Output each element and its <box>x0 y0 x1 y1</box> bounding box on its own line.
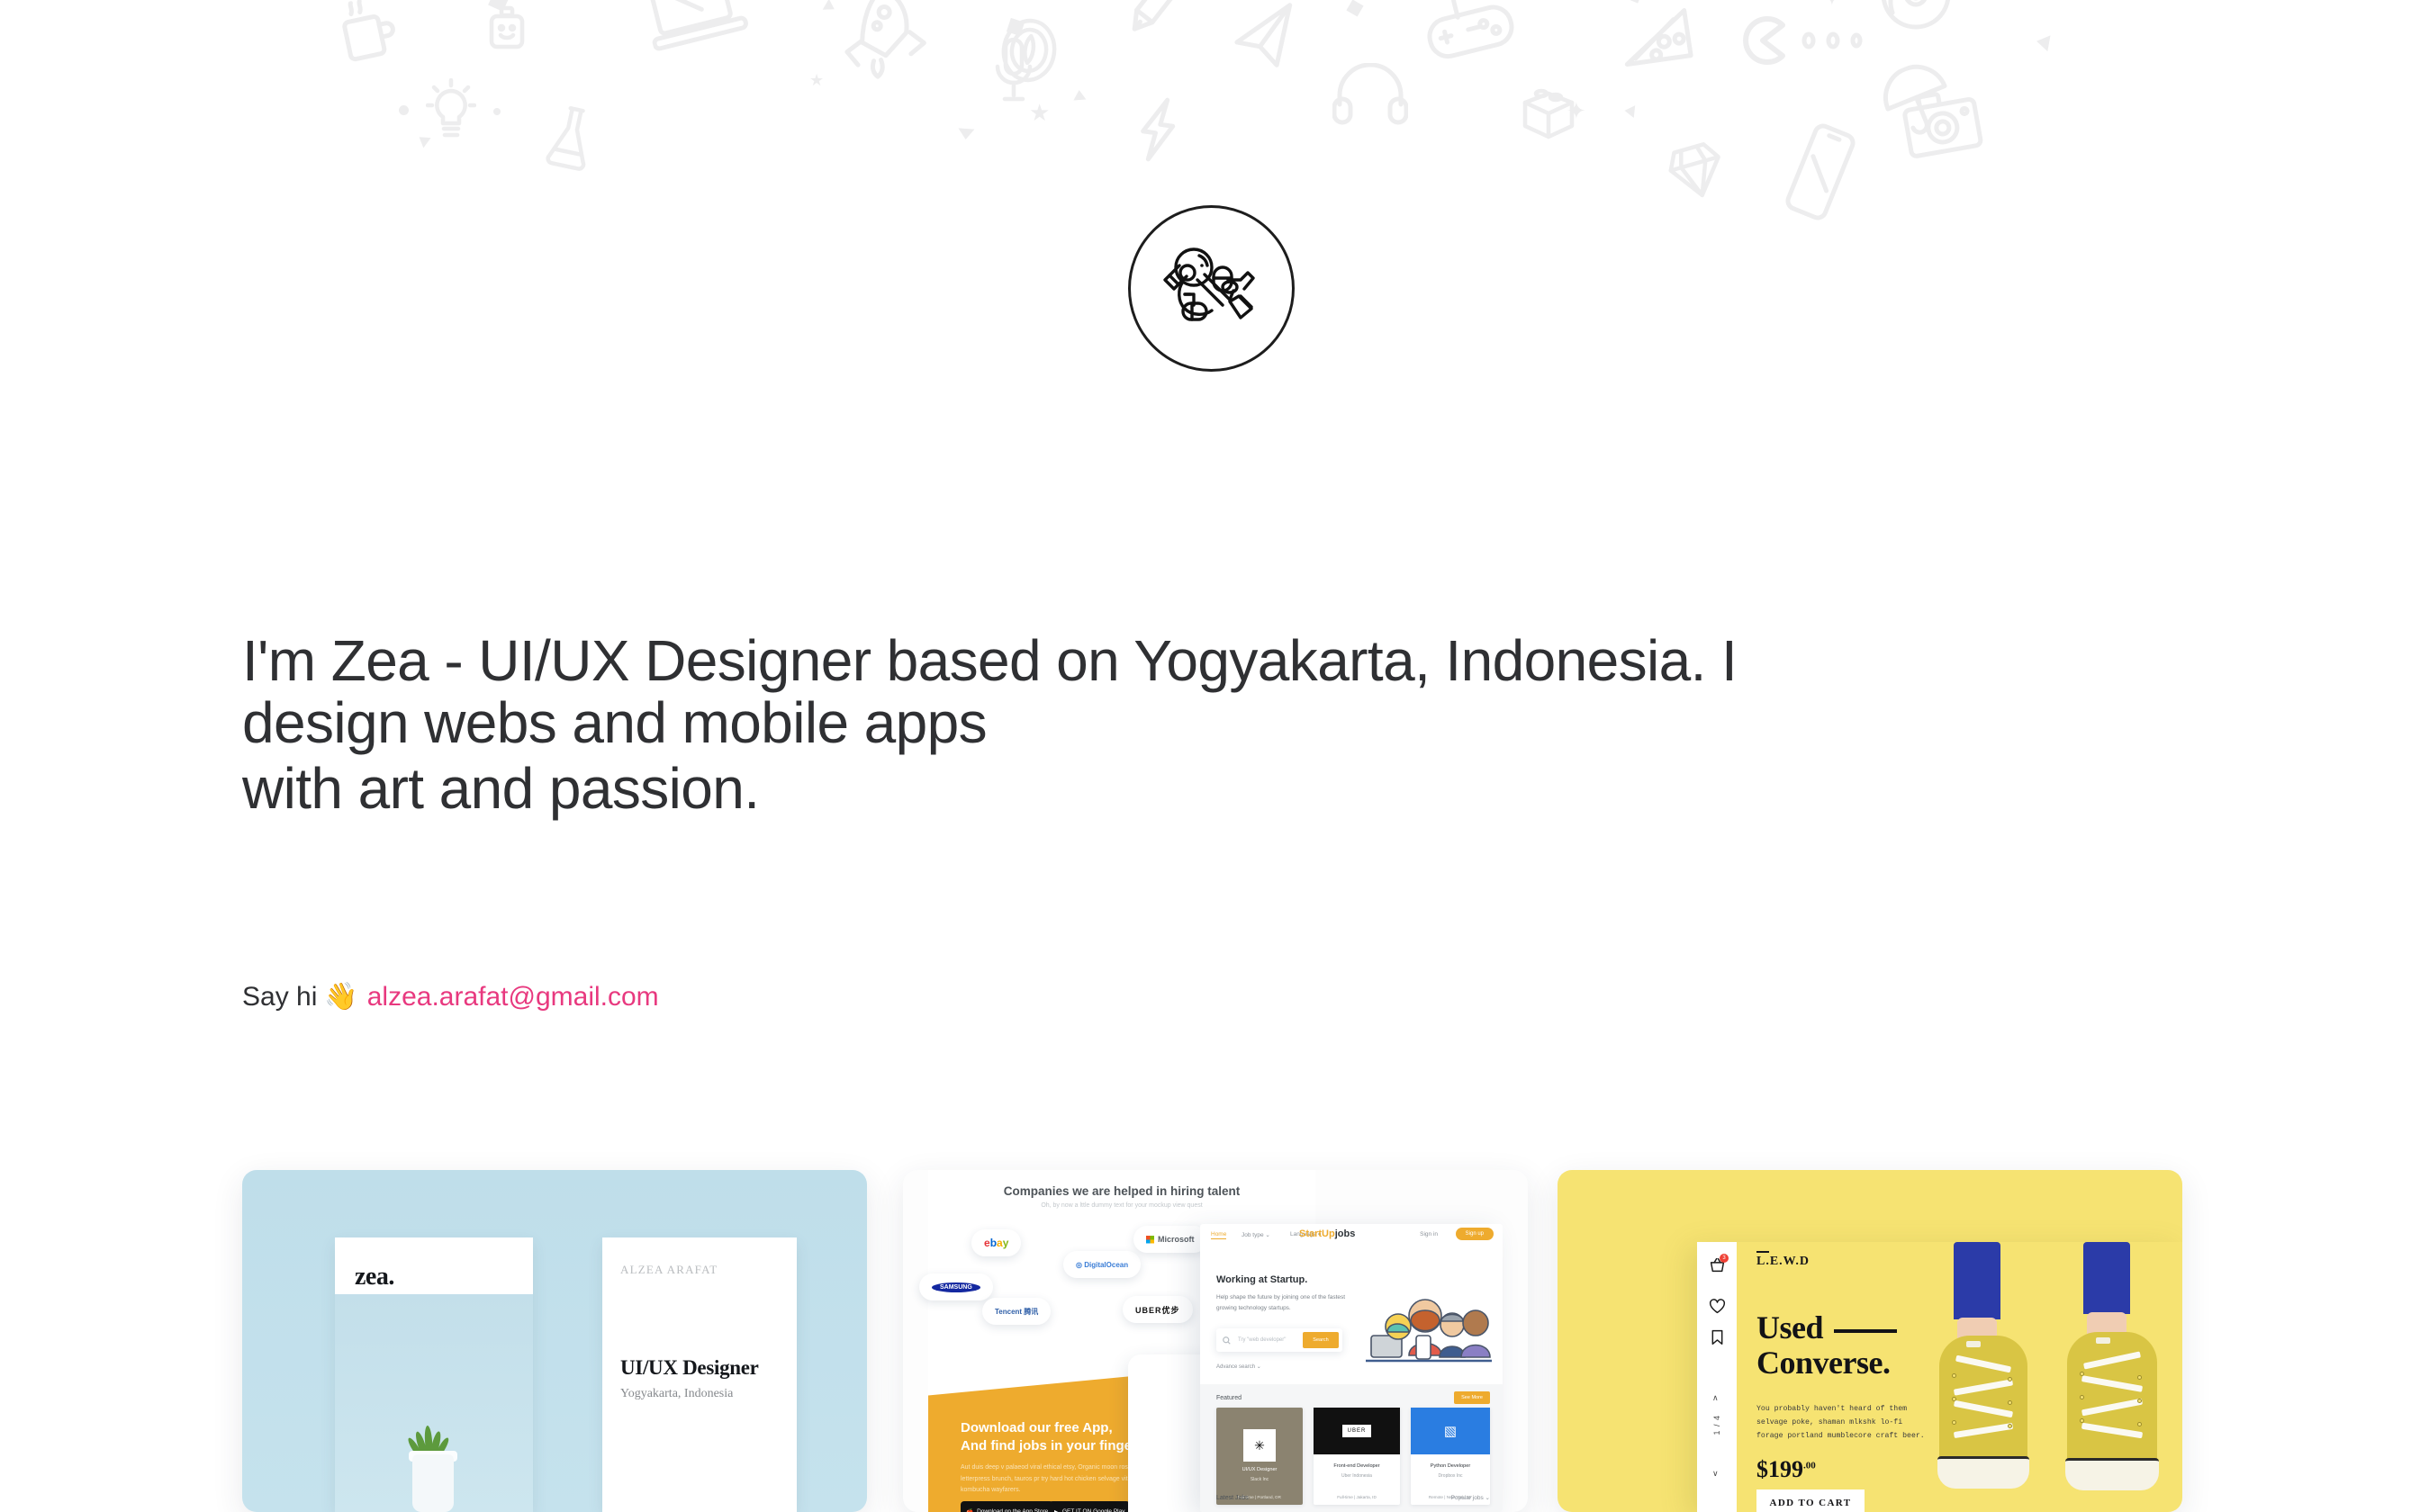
star-decoration: ★ <box>809 72 824 88</box>
smartphone-icon <box>1793 124 1847 220</box>
pagination-indicator: 1 / 4 <box>1712 1415 1721 1435</box>
astronaut-icon <box>1158 235 1266 343</box>
lewd-product-page: 3 ∧ 1 / 4 ∨ <box>1697 1242 2182 1512</box>
compass-icon <box>999 16 1059 85</box>
lewd-logo: L.E.W.D <box>1756 1255 1810 1269</box>
triangle-decoration <box>823 0 838 14</box>
team-illustration <box>1362 1280 1495 1370</box>
umbrella-icon <box>1882 65 1954 137</box>
pizza-slice-icon <box>1626 2 1700 85</box>
job-meta: Full-time | Jakarta, ID <box>1314 1495 1400 1499</box>
waving-hand-icon: 👋 <box>324 981 357 1012</box>
plant-photo <box>335 1294 533 1512</box>
logo-chip-samsung: SAMSUNG <box>919 1273 993 1300</box>
job-company: Dropbox Inc <box>1411 1473 1490 1479</box>
job-card-3[interactable]: ▧ Python Developer Dropbox Inc Remote | … <box>1411 1408 1490 1505</box>
dot-decoration <box>493 108 501 115</box>
triangle-decoration <box>958 128 975 139</box>
paper-plane-icon <box>1232 7 1302 72</box>
headline-line-1: I'm Zea - UI/UX Designer based on Yogyak… <box>242 628 1737 693</box>
see-more-button[interactable]: See More <box>1454 1391 1490 1404</box>
appstore-badge[interactable]: 🍎 Download on the App Store <box>961 1501 1053 1512</box>
lego-head-icon <box>486 5 528 52</box>
nav-signin[interactable]: Sign in <box>1420 1231 1438 1237</box>
triangle-decoration <box>2036 33 2051 51</box>
shopping-basket-icon[interactable]: 3 <box>1709 1256 1726 1278</box>
hero-body: Help shape the future by joining one of … <box>1216 1292 1360 1315</box>
triangle-decoration <box>1073 90 1087 101</box>
hero-title: Working at Startup. <box>1216 1274 1307 1285</box>
person-name: ALZEA ARAFAT <box>620 1263 718 1277</box>
headline-line-3: with art and passion. <box>242 758 2088 820</box>
companies-title: Companies we are helped in hiring talent <box>928 1184 1315 1198</box>
contact-prefix: Say hi <box>242 982 317 1012</box>
job-title: Front-end Developer <box>1314 1463 1400 1469</box>
heart-icon[interactable] <box>1709 1298 1726 1319</box>
site-nav: Home Job type ⌄ Language ● StartUpjobs S… <box>1200 1224 1503 1247</box>
advance-search-toggle[interactable]: Advance search ⌄ <box>1216 1363 1261 1370</box>
cd-disc-icon <box>1878 0 1954 32</box>
job-company: Slack Inc <box>1216 1477 1303 1482</box>
dot-decoration <box>399 105 409 115</box>
latest-jobs-label: Latest Jobs <box>1216 1495 1249 1501</box>
pacman-icon <box>1738 14 1786 67</box>
microphone-icon <box>990 36 1037 106</box>
business-card-back: ALZEA ARAFAT UI/UX Designer Yogyakarta, … <box>602 1237 797 1512</box>
cart-badge: 3 <box>1720 1254 1729 1263</box>
logo-chip-digitalocean: ◎ DigitalOcean <box>1063 1251 1141 1278</box>
project-card-zea-branding[interactable]: zea. ALZEA ARAFAT UI/UX Designer <box>242 1170 867 1512</box>
nav-home[interactable]: Home <box>1211 1231 1226 1239</box>
email-link[interactable]: alzea.arafat@gmail.com <box>367 982 659 1012</box>
logo-chip-microsoft: Microsoft <box>1133 1226 1207 1253</box>
product-hero: L.E.W.D Used Converse. You probably have… <box>1737 1242 2182 1512</box>
logo-chip-ebay: ebay <box>971 1229 1021 1256</box>
succulent-plant <box>405 1429 461 1512</box>
square-decoration <box>1346 0 1363 17</box>
startupjobs-homepage: Home Job type ⌄ Language ● StartUpjobs S… <box>1200 1224 1503 1512</box>
triangle-decoration <box>415 132 430 148</box>
star-decoration: ✦ <box>1822 0 1842 9</box>
search-placeholder: Try "web developer" <box>1238 1337 1286 1343</box>
signup-button[interactable]: Sign up <box>1456 1228 1494 1240</box>
pacman-dot-icon <box>1799 31 1867 50</box>
flask-icon <box>547 105 594 170</box>
add-to-cart-button[interactable]: ADD TO CART <box>1756 1489 1865 1512</box>
project-card-lewd-ecommerce[interactable]: 3 ∧ 1 / 4 ∨ <box>1558 1170 2182 1512</box>
product-description: You probably haven't heard of them selva… <box>1756 1402 1928 1444</box>
star-decoration: ✦ <box>1567 99 1586 122</box>
app-promo-body: Aut duis deep v palaeod viral ethical et… <box>961 1462 1150 1497</box>
diamond-icon <box>1667 140 1723 202</box>
square-decoration <box>1007 18 1025 36</box>
googleplay-badge[interactable]: ▶ GET IT ON Google Play <box>1049 1501 1130 1512</box>
person-location: Yogyakarta, Indonesia <box>620 1387 733 1401</box>
rocket-icon <box>837 0 927 79</box>
uber-logo: UBER <box>1342 1425 1372 1437</box>
search-button[interactable]: Search <box>1303 1332 1339 1348</box>
astronaut-logo[interactable] <box>1128 205 1295 372</box>
portfolio-page: ★ ✦ ✦ ★ <box>0 0 2420 1512</box>
headline-line-2: design webs and mobile apps <box>242 692 2088 754</box>
person-role: UI/UX Designer <box>620 1356 759 1380</box>
triangle-decoration <box>1624 104 1635 118</box>
popular-jobs-dropdown[interactable]: Popular jobs ⌄ <box>1451 1494 1490 1501</box>
coffee-mug-icon <box>340 0 396 61</box>
product-price: $199.00 <box>1756 1456 1816 1483</box>
laptop-icon <box>646 0 745 56</box>
product-heading: Used Converse. <box>1756 1310 1897 1381</box>
companies-subtitle: Oh, by now a lttle dummy text for your m… <box>928 1202 1315 1209</box>
dropbox-logo: ▧ <box>1444 1423 1457 1439</box>
featured-label: Featured <box>1216 1395 1242 1401</box>
job-title: UI/UX Designer <box>1216 1467 1303 1472</box>
square-decoration <box>488 0 510 12</box>
project-card-startupjobs[interactable]: Companies we are helped in hiring talent… <box>903 1170 1528 1512</box>
lego-brick-icon <box>1520 79 1577 140</box>
job-company: Uber Indonesia <box>1314 1473 1400 1479</box>
business-card-front: zea. <box>335 1237 533 1512</box>
job-title: Python Developer <box>1411 1463 1490 1469</box>
pencil-icon <box>1115 0 1196 43</box>
chevron-up-icon[interactable]: ∧ <box>1712 1393 1719 1403</box>
camera-icon <box>1903 90 1981 157</box>
star-decoration: ★ <box>1029 101 1050 124</box>
side-rail: 3 ∧ 1 / 4 ∨ <box>1697 1242 1737 1512</box>
logo-chip-uber: UBER优步 <box>1123 1296 1193 1323</box>
job-card-1[interactable]: ✳ UI/UX Designer Slack Inc Full-time | P… <box>1216 1408 1303 1505</box>
headphones-icon <box>1332 63 1408 126</box>
logo-chip-tencent: Tencent 腾讯 <box>982 1298 1051 1325</box>
job-search-bar[interactable]: Try "web developer" Search <box>1216 1328 1342 1352</box>
chevron-down-icon[interactable]: ∨ <box>1712 1469 1719 1479</box>
bookmark-icon[interactable] <box>1709 1328 1726 1350</box>
nav-jobtype[interactable]: Job type ⌄ <box>1242 1231 1270 1238</box>
gamepad-icon <box>1422 0 1518 59</box>
project-gallery: zea. ALZEA ARAFAT UI/UX Designer <box>0 1170 2420 1512</box>
lightbulb-icon <box>426 78 476 143</box>
square-decoration <box>1623 0 1643 4</box>
lightning-bolt-icon <box>1136 95 1179 164</box>
job-card-2[interactable]: UBER Front-end Developer Uber Indonesia … <box>1314 1408 1400 1505</box>
startupjobs-logo: StartUpjobs <box>1299 1228 1355 1239</box>
zea-logo: zea. <box>355 1263 394 1291</box>
converse-shoes-photo <box>1930 1242 2182 1512</box>
slack-logo: ✳ <box>1243 1429 1276 1462</box>
page-title: I'm Zea - UI/UX Designer based on Yogyak… <box>242 630 2088 820</box>
contact-line: Say hi 👋 alzea.arafat@gmail.com <box>242 981 659 1012</box>
search-icon <box>1223 1336 1231 1345</box>
